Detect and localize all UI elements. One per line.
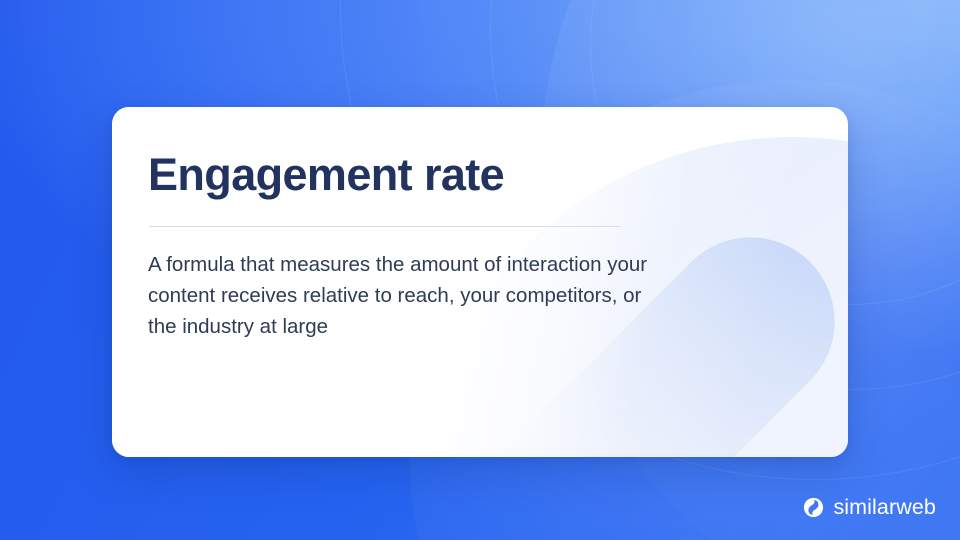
card-description: A formula that measures the amount of in…: [148, 249, 668, 342]
similarweb-logo-text: similarweb: [833, 497, 936, 519]
slide-canvas: Engagement rate A formula that measures …: [0, 0, 960, 540]
card-content: Engagement rate A formula that measures …: [112, 107, 848, 342]
similarweb-logo-icon: [803, 497, 824, 518]
card-divider: [149, 226, 620, 227]
similarweb-logo: similarweb: [803, 497, 936, 519]
definition-card: Engagement rate A formula that measures …: [112, 107, 848, 457]
card-title: Engagement rate: [148, 151, 848, 200]
